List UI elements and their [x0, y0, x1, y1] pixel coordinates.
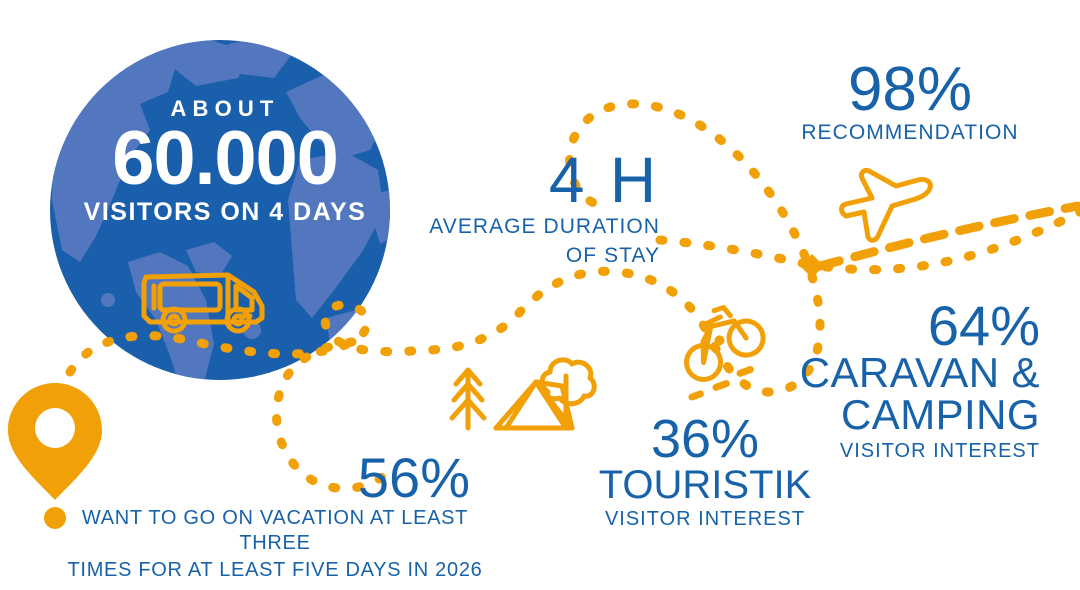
touristik-value: 36% [560, 415, 850, 465]
duration-caption-line2: OF STAY [400, 243, 660, 268]
touristik-name: TOURISTIK [560, 465, 850, 505]
globe-subtitle: VISITORS ON 4 DAYS [80, 198, 370, 227]
recommendation-caption: RECOMMENDATION [790, 121, 1030, 145]
duration-value: 4 H [400, 152, 660, 210]
recommendation-value: 98% [790, 62, 1030, 118]
stat-vacation-intent: 56% WANT TO GO ON VACATION AT LEAST THRE… [60, 452, 490, 583]
caravan-value: 64% [700, 300, 1040, 352]
vacation-caption-line1: WANT TO GO ON VACATION AT LEAST THREE [60, 506, 490, 556]
caravan-name-line1: CARAVAN & [700, 352, 1040, 394]
infographic-canvas: ABOUT 60.000 VISITORS ON 4 DAYS 4 H AVER… [0, 0, 1080, 590]
duration-caption-line1: AVERAGE DURATION [400, 214, 660, 239]
airplane-icon [842, 170, 931, 240]
globe-stat-block: ABOUT 60.000 VISITORS ON 4 DAYS [80, 96, 370, 227]
touristik-caption: VISITOR INTEREST [560, 508, 850, 531]
stat-average-duration: 4 H AVERAGE DURATION OF STAY [400, 152, 660, 268]
stat-recommendation: 98% RECOMMENDATION [790, 62, 1030, 145]
vacation-value: 56% [60, 452, 490, 504]
vacation-caption-line2: TIMES FOR AT LEAST FIVE DAYS IN 2026 [60, 558, 490, 583]
camper-van-icon [144, 275, 262, 331]
stat-touristik: 36% TOURISTIK VISITOR INTEREST [560, 415, 850, 531]
globe-visitor-count: 60.000 [80, 124, 370, 194]
